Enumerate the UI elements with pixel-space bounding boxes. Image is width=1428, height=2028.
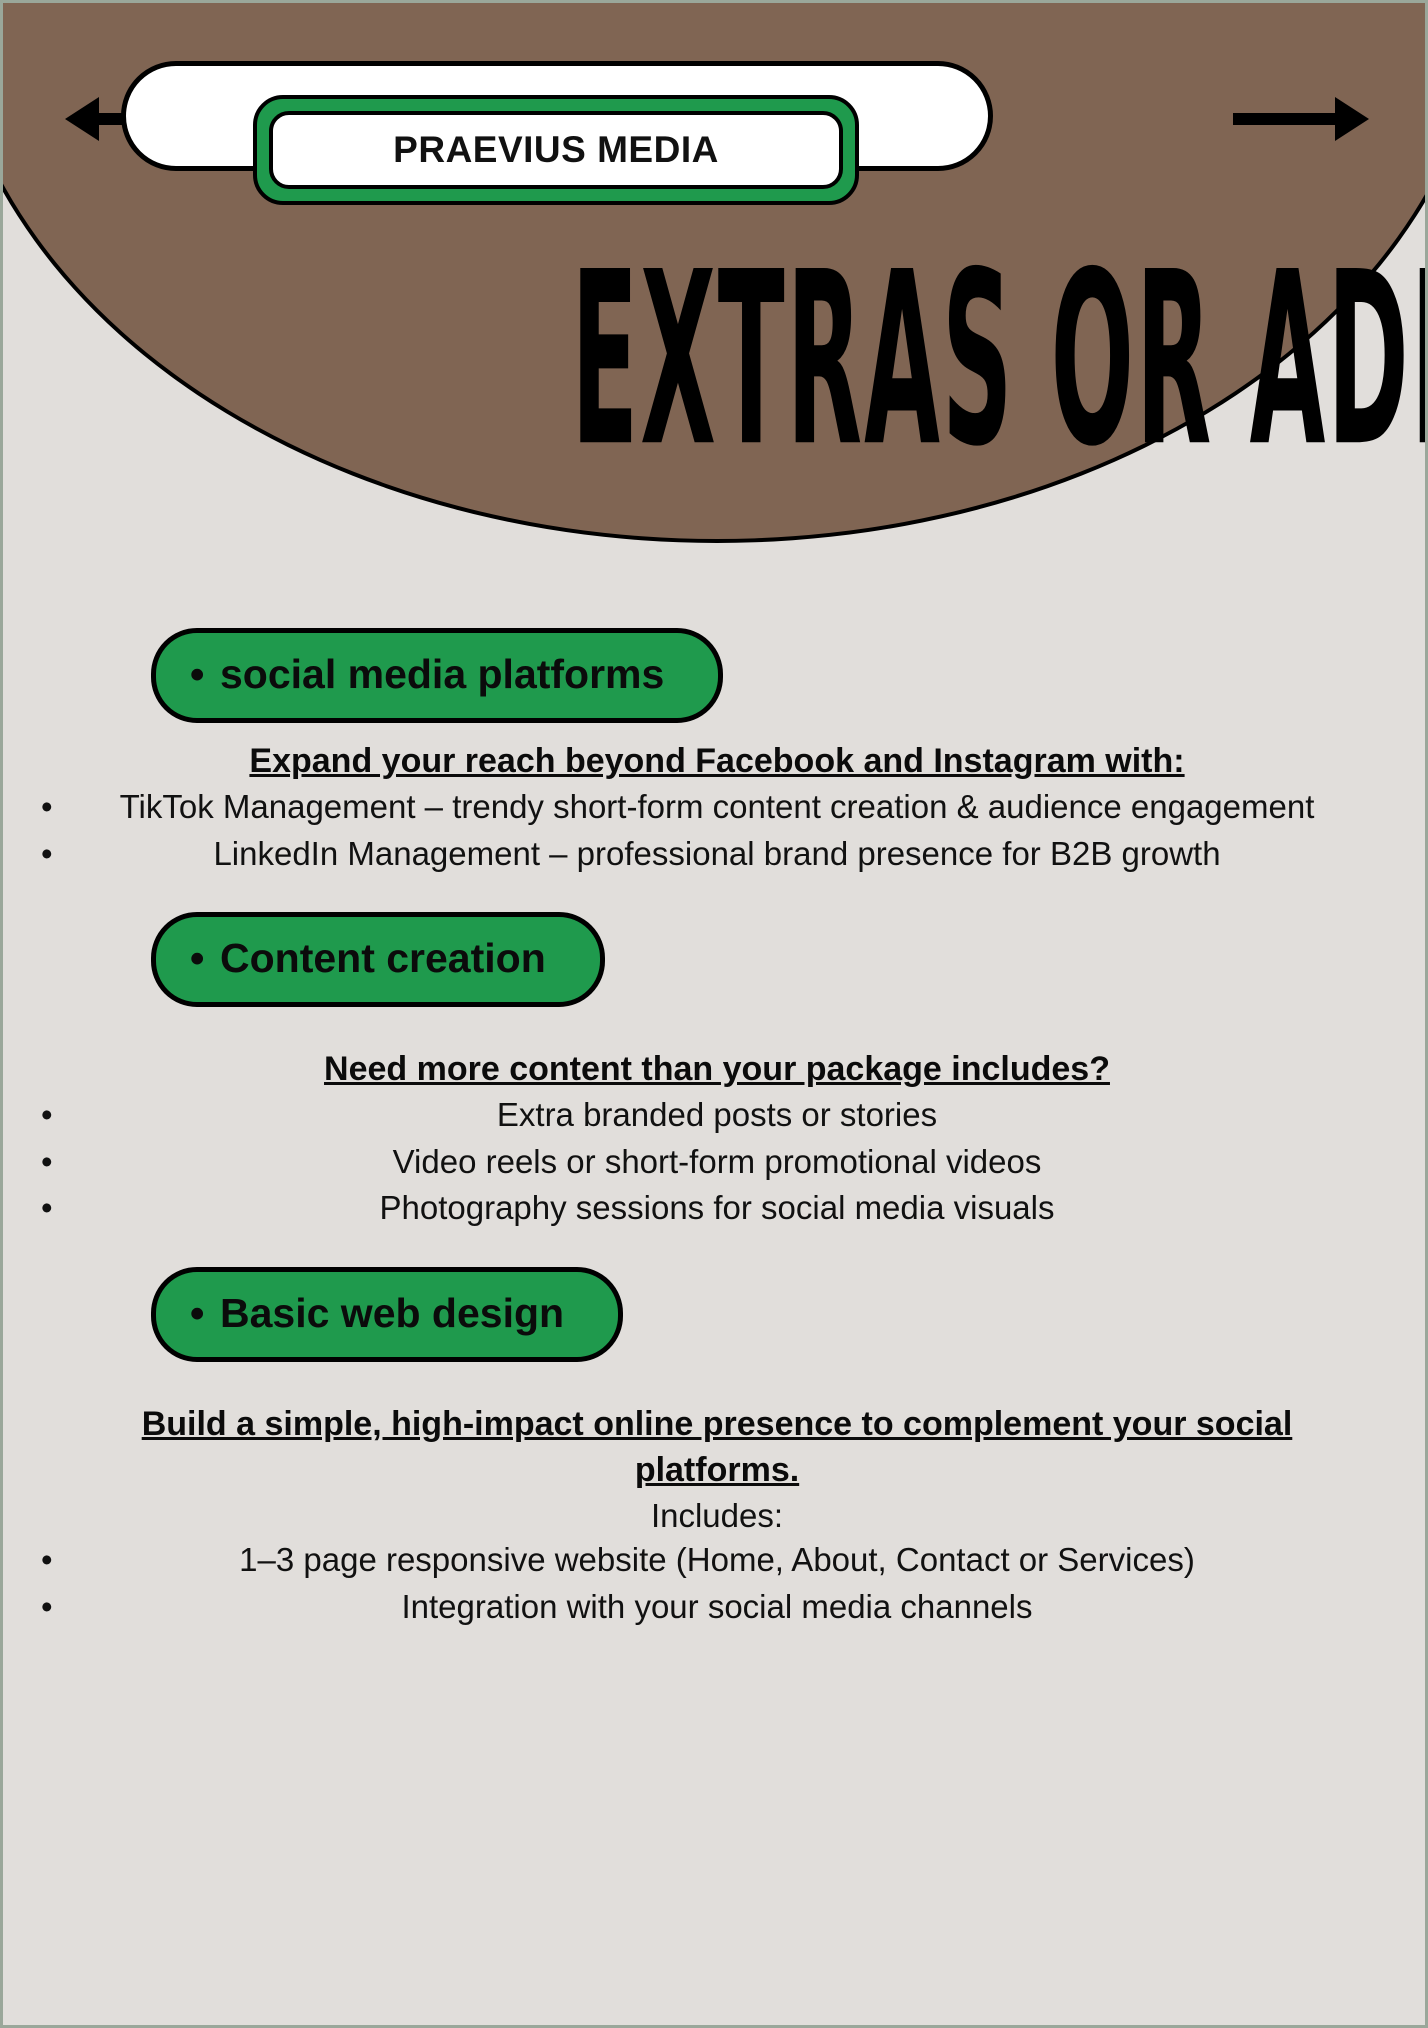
pill-content-creation[interactable]: •Content creation [151, 912, 605, 1007]
list-item: •LinkedIn Management – professional bran… [3, 832, 1428, 877]
list-item: •Extra branded posts or stories [3, 1093, 1428, 1138]
list-item-text: Integration with your social media chann… [401, 1588, 1032, 1625]
section-includes-label: Includes: [3, 1494, 1428, 1539]
bullet-icon: • [190, 1290, 220, 1337]
content-column: •social media platforms Expand your reac… [3, 628, 1428, 1631]
pill-label-row: •social media platforms [190, 651, 664, 697]
pill-social-media-platforms[interactable]: •social media platforms [151, 628, 723, 723]
pill-basic-web-design[interactable]: •Basic web design [151, 1267, 623, 1362]
bullet-icon: • [41, 832, 53, 877]
bullet-icon: • [190, 935, 220, 982]
brand-banner-inner: PRAEVIUS MEDIA [269, 111, 843, 189]
list-item: •Integration with your social media chan… [3, 1585, 1428, 1630]
list-item: •1–3 page responsive website (Home, Abou… [3, 1538, 1428, 1583]
poster-page: PRAEVIUS MEDIA EXTRAS OR ADD-ON •social … [0, 0, 1428, 2028]
list-item-text: LinkedIn Management – professional brand… [213, 835, 1220, 872]
arrow-right-icon [1335, 97, 1369, 141]
section-bullet-list: •TikTok Management – trendy short-form c… [3, 785, 1428, 876]
section-basic-web-design: •Basic web design Build a simple, high-i… [3, 1267, 1428, 1630]
list-item: •Video reels or short-form promotional v… [3, 1140, 1428, 1185]
brand-banner-green-frame: PRAEVIUS MEDIA [253, 95, 859, 205]
pill-label: Content creation [220, 935, 546, 981]
section-heading: Build a simple, high-impact online prese… [3, 1402, 1428, 1494]
bullet-icon: • [41, 1538, 53, 1583]
list-item: •Photography sessions for social media v… [3, 1186, 1428, 1231]
pill-label-row: •Content creation [190, 935, 546, 981]
section-heading: Need more content than your package incl… [3, 1047, 1428, 1093]
bullet-icon: • [41, 1093, 53, 1138]
pill-label: social media platforms [220, 651, 664, 697]
section-heading: Expand your reach beyond Facebook and In… [3, 739, 1428, 785]
bullet-icon: • [41, 1186, 53, 1231]
section-bullet-list: •1–3 page responsive website (Home, Abou… [3, 1538, 1428, 1629]
section-bullet-list: •Extra branded posts or stories •Video r… [3, 1093, 1428, 1231]
section-social-media-platforms: •social media platforms Expand your reac… [3, 628, 1428, 876]
pill-label: Basic web design [220, 1290, 564, 1336]
headline-container: EXTRAS OR ADD-ON [3, 241, 1428, 437]
list-item: •TikTok Management – trendy short-form c… [3, 785, 1428, 830]
list-item-text: 1–3 page responsive website (Home, About… [239, 1541, 1195, 1578]
list-item-text: Extra branded posts or stories [497, 1096, 937, 1133]
list-item-text: TikTok Management – trendy short-form co… [120, 788, 1315, 825]
brand-name: PRAEVIUS MEDIA [393, 129, 719, 171]
pill-label-row: •Basic web design [190, 1290, 564, 1336]
bullet-icon: • [41, 1140, 53, 1185]
bullet-icon: • [41, 1585, 53, 1630]
bullet-icon: • [41, 785, 53, 830]
list-item-text: Video reels or short-form promotional vi… [393, 1143, 1042, 1180]
bullet-icon: • [190, 651, 220, 698]
section-content-creation: •Content creation Need more content than… [3, 912, 1428, 1231]
list-item-text: Photography sessions for social media vi… [379, 1189, 1054, 1226]
page-title: EXTRAS OR ADD-ON [571, 241, 1428, 480]
arrow-left-icon [65, 97, 99, 141]
